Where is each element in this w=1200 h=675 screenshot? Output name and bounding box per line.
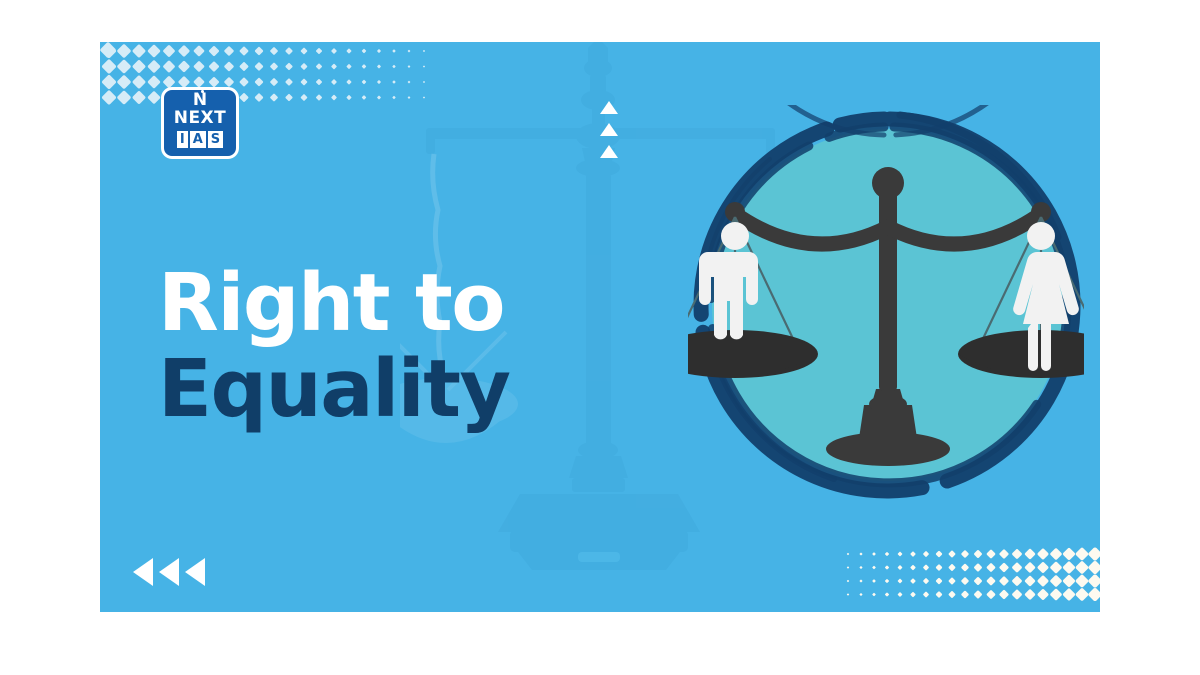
triangle-up-icon [600,145,618,158]
headline-line-2: Equality [158,350,628,428]
logo-wordmark-next: NEXT [161,110,239,127]
triangle-left-icon [185,558,205,586]
triangle-marker-group [600,101,630,171]
next-ias-logo[interactable]: N NEXT I A S [161,87,239,159]
triangle-up-icon [600,101,618,114]
page-title: Right to Equality [158,264,628,428]
scale-finial [872,167,904,199]
banner-panel: N NEXT I A S Right to Equality [100,42,1100,612]
banner-stage: N NEXT I A S Right to Equality [0,0,1200,675]
triangle-left-icon [133,558,153,586]
triangle-up-icon [600,123,618,136]
halftone-pattern-top-left [100,42,430,110]
logo-wordmark-ias: I A S [161,131,239,148]
headline-line-1: Right to [158,264,628,342]
balance-scale-emblem [688,105,1084,501]
triangle-left-icon [159,558,179,586]
logo-letter-n: N [161,92,239,109]
logo-ias-letter-i: I [177,131,188,148]
logo-n-dot-icon [201,90,204,93]
left-arrow-group [133,558,205,586]
halftone-pattern-bottom-right [840,546,1100,604]
logo-ias-letter-s: S [208,131,223,148]
logo-ias-letter-a: A [190,131,206,148]
